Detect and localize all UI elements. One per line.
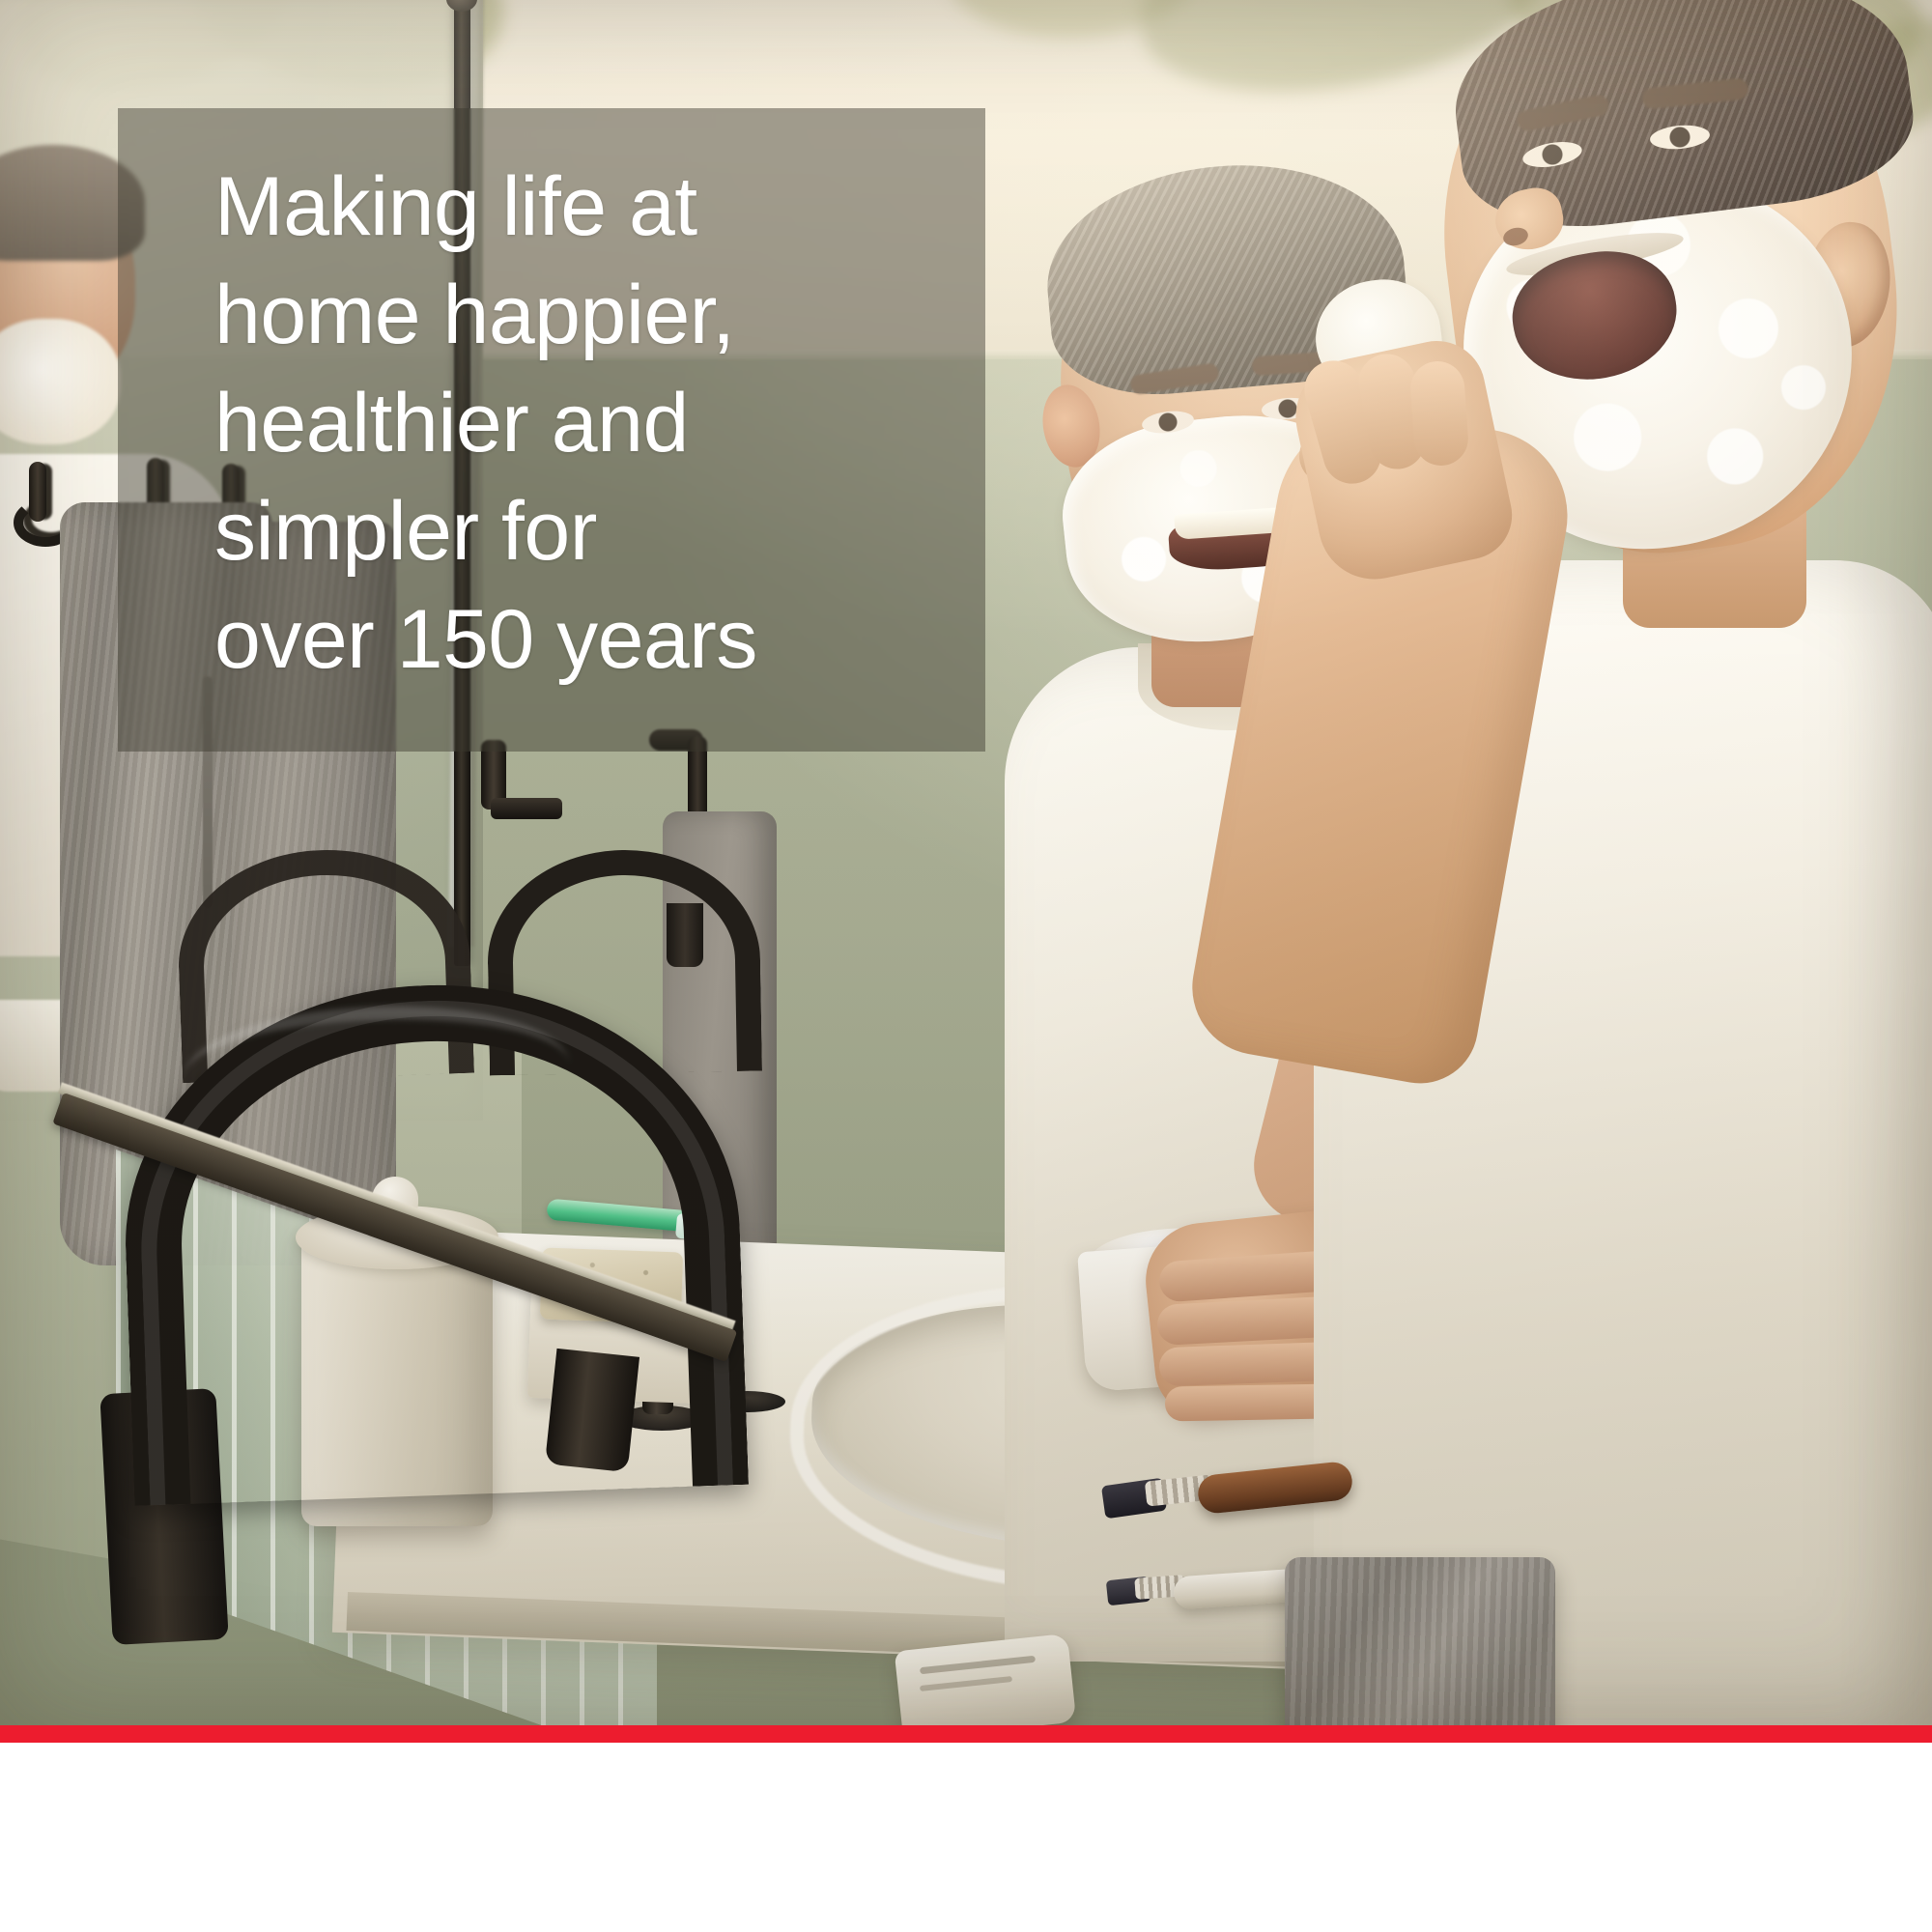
headline-line-3: healthier and: [214, 369, 949, 477]
faucet-spout: [545, 1349, 639, 1472]
brand-red-bar: [0, 1725, 1932, 1743]
headline-line-5: over 150 years: [214, 585, 949, 694]
father-finger: [1165, 1384, 1332, 1422]
headline-line-2: home happier,: [214, 261, 949, 369]
faucet-spout-background: [667, 903, 703, 967]
headline: Making life at home happier, healthier a…: [214, 153, 949, 694]
towel-hook: [29, 462, 46, 522]
son-finger: [1408, 359, 1469, 468]
footer-bar: American Standard: [0, 1743, 1932, 1932]
headline-line-4: simpler for: [214, 477, 949, 585]
advertisement-canvas: Making life at home happier, healthier a…: [0, 0, 1932, 1932]
headline-line-1: Making life at: [214, 153, 949, 261]
mirror-reflection-shaving-foam: [0, 319, 121, 444]
folded-towel: [1285, 1557, 1555, 1725]
